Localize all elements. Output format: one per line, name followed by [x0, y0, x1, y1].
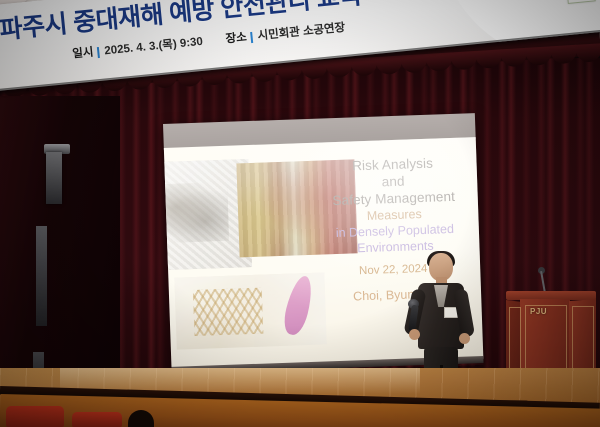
curtain-pleat — [147, 58, 156, 398]
stage-left-wall — [0, 96, 120, 396]
podium-emblem: PJU — [530, 307, 560, 321]
curtain-pleat — [156, 58, 165, 398]
presenter-right-hand — [459, 333, 470, 344]
audience-seat — [6, 406, 64, 427]
banner-venue-value: 시민회관 소공연장 — [257, 22, 346, 43]
curtain-pleat — [132, 58, 141, 398]
banner-venue-label: 장소 — [225, 31, 247, 45]
slide-title-block: Risk Analysis and Safety Management Meas… — [312, 153, 475, 258]
curtain-pleat — [483, 58, 492, 398]
banner-divider — [97, 47, 100, 58]
banner-divider — [250, 32, 253, 43]
stage-light-stem — [46, 152, 62, 204]
presenter-left-hand — [409, 329, 420, 340]
banner-datetime-label: 일시 — [72, 47, 94, 61]
audience-seat — [72, 412, 122, 427]
seminar-stage-photo: Risk Analysis and Safety Management Meas… — [0, 0, 600, 427]
banner-venue: 장소시민회관 소공연장 — [225, 19, 346, 47]
wall-strip — [36, 226, 47, 326]
banner-datetime-value: 2025. 4. 3.(목) 9:30 — [104, 36, 204, 58]
